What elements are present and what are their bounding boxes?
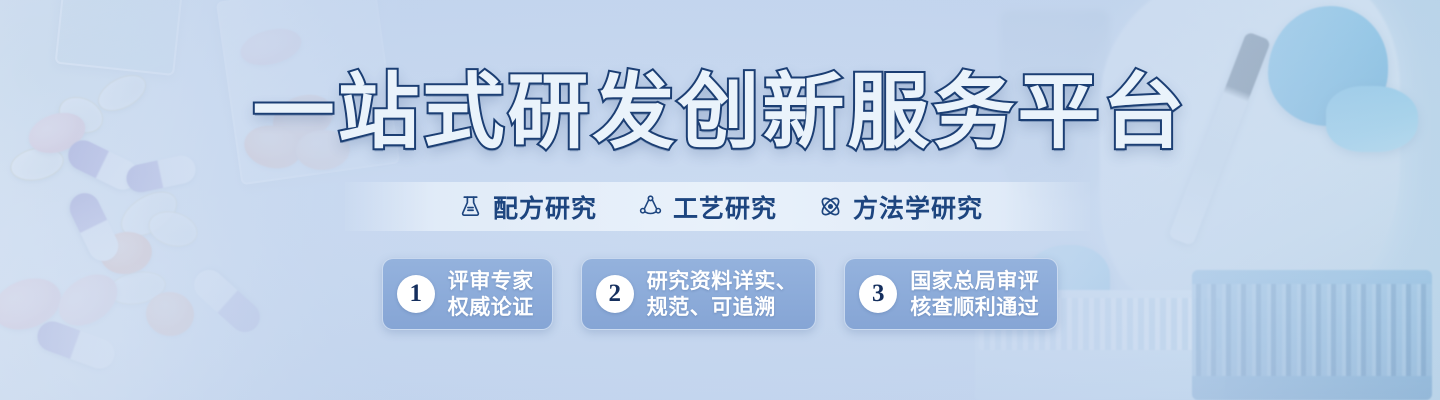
feature-line-2: 核查顺利通过 [910, 295, 1039, 320]
feature-number-badge: 1 [397, 275, 435, 313]
flask-icon [457, 193, 484, 220]
feature-card-2[interactable]: 2 研究资料详实、 规范、可追溯 [581, 258, 817, 330]
feature-card-text: 研究资料详实、 规范、可追溯 [647, 269, 798, 320]
feature-number-badge: 3 [859, 275, 897, 313]
feature-line-1: 国家总局审评 [910, 269, 1039, 294]
service-list: 配方研究 工艺研究 [0, 182, 1440, 231]
feature-line-2: 权威论证 [448, 295, 534, 320]
service-label: 方法学研究 [853, 189, 983, 225]
feature-card-1[interactable]: 1 评审专家 权威论证 [382, 258, 553, 330]
feature-card-list: 1 评审专家 权威论证 2 研究资料详实、 规范、可追溯 3 国家总局审评 核查… [0, 258, 1440, 330]
service-label: 配方研究 [493, 189, 597, 225]
feature-line-2: 规范、可追溯 [647, 295, 798, 320]
feature-line-1: 研究资料详实、 [647, 269, 798, 294]
promo-banner: 一站式研发创新服务平台 配方研究 [0, 0, 1440, 400]
banner-title: 一站式研发创新服务平台 [252, 72, 1187, 154]
service-item-process[interactable]: 工艺研究 [637, 189, 777, 225]
molecule-icon [637, 193, 664, 220]
service-item-formulation[interactable]: 配方研究 [457, 189, 597, 225]
feature-card-text: 评审专家 权威论证 [448, 269, 534, 320]
feature-card-3[interactable]: 3 国家总局审评 核查顺利通过 [844, 258, 1058, 330]
feature-card-text: 国家总局审评 核查顺利通过 [910, 269, 1039, 320]
feature-number-badge: 2 [596, 275, 634, 313]
service-item-methodology[interactable]: 方法学研究 [817, 189, 983, 225]
atom-icon [817, 193, 844, 220]
title-container: 一站式研发创新服务平台 [0, 72, 1440, 154]
service-label: 工艺研究 [673, 189, 777, 225]
feature-line-1: 评审专家 [448, 269, 534, 294]
